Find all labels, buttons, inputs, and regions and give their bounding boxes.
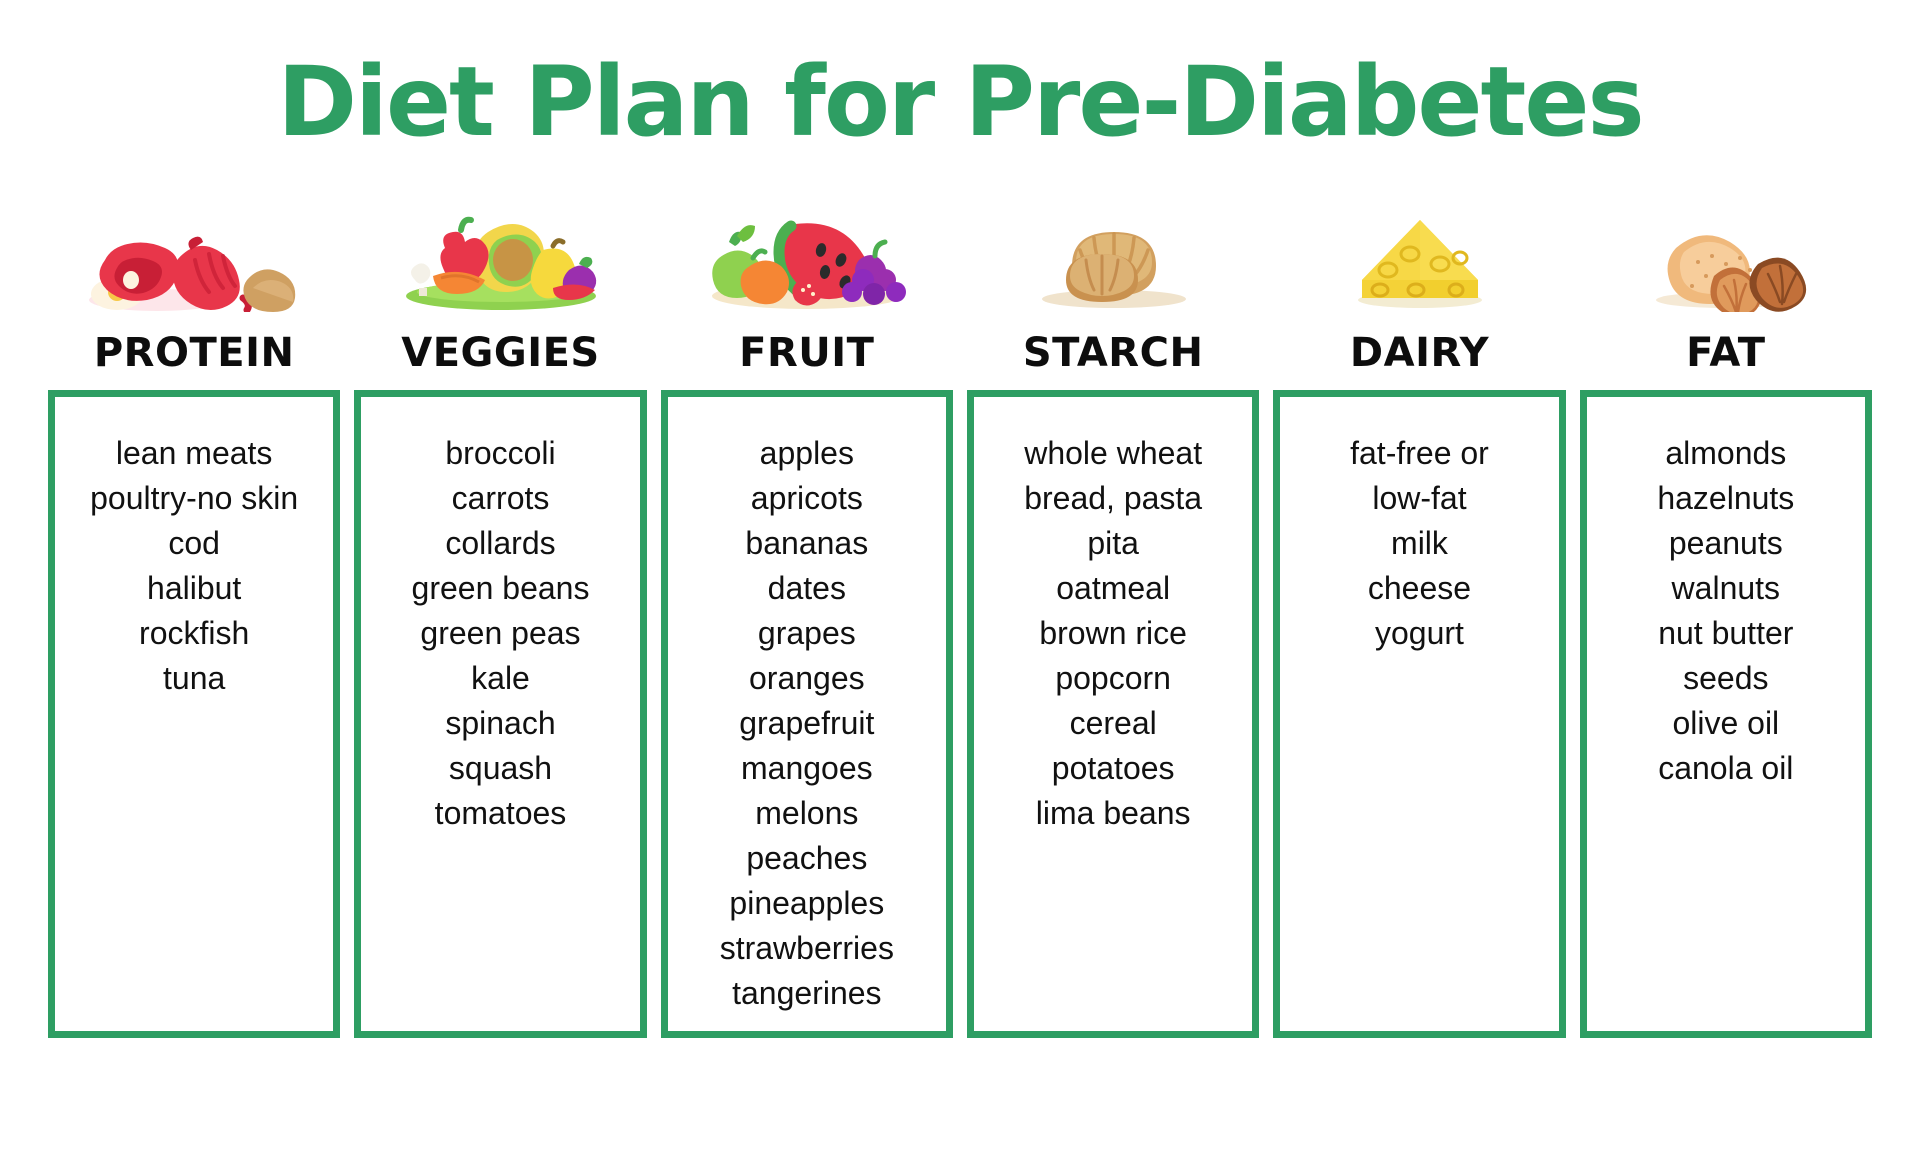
list-item: melons <box>755 791 858 836</box>
list-item: milk <box>1391 521 1448 566</box>
category-header-veggies: VEGGIES <box>401 330 599 376</box>
list-item: squash <box>449 746 552 791</box>
list-item: rockfish <box>139 611 249 656</box>
list-item: cheese <box>1368 566 1471 611</box>
food-group-column-fruit: FRUIT apples apricots bananas dates grap… <box>661 197 953 1038</box>
meat-steak-sausage-egg-icon <box>48 197 340 312</box>
list-item: lima beans <box>1036 791 1191 836</box>
list-item: oranges <box>749 656 865 701</box>
list-item: whole wheat <box>1024 431 1202 476</box>
list-item: nut butter <box>1658 611 1793 656</box>
list-item: pineapples <box>729 881 884 926</box>
list-item: yogurt <box>1375 611 1464 656</box>
list-item: lean meats <box>116 431 273 476</box>
cheese-wedge-icon <box>1273 197 1565 312</box>
list-item: potatoes <box>1052 746 1175 791</box>
page-title: Diet Plan for Pre-Diabetes <box>0 52 1920 153</box>
category-header-protein: PROTEIN <box>94 330 295 376</box>
list-item: apricots <box>751 476 863 521</box>
list-item: poultry-no skin <box>90 476 298 521</box>
list-item: canola oil <box>1658 746 1793 791</box>
list-item: green peas <box>420 611 580 656</box>
list-item: peanuts <box>1669 521 1783 566</box>
category-header-dairy: DAIRY <box>1350 330 1489 376</box>
food-group-column-fat: FAT almonds hazelnuts peanuts walnuts nu… <box>1580 197 1872 1038</box>
list-item: oatmeal <box>1056 566 1170 611</box>
list-item: bananas <box>745 521 868 566</box>
food-group-column-protein: PROTEIN lean meats poultry-no skin cod h… <box>48 197 340 1038</box>
list-item: seeds <box>1683 656 1768 701</box>
list-item: spinach <box>445 701 555 746</box>
list-item: broccoli <box>445 431 555 476</box>
list-item: strawberries <box>720 926 894 971</box>
list-item: cereal <box>1070 701 1157 746</box>
list-item: bread, pasta <box>1024 476 1202 521</box>
food-list-protein: lean meats poultry-no skin cod halibut r… <box>48 390 340 1038</box>
list-item: tuna <box>163 656 225 701</box>
food-group-column-starch: STARCH whole wheat bread, pasta pita oat… <box>967 197 1259 1038</box>
food-list-veggies: broccoli carrots collards green beans gr… <box>354 390 646 1038</box>
bread-loaf-icon <box>967 197 1259 312</box>
infographic-page: Diet Plan for Pre-Diabetes <box>0 0 1920 1152</box>
vegetable-platter-icon <box>354 197 646 312</box>
list-item: low-fat <box>1372 476 1466 521</box>
nuts-almonds-icon <box>1580 197 1872 312</box>
list-item: pita <box>1087 521 1139 566</box>
list-item: grapefruit <box>739 701 874 746</box>
category-header-fat: FAT <box>1686 330 1765 376</box>
food-group-column-dairy: DAIRY fat-free or low-fat milk cheese yo… <box>1273 197 1565 1038</box>
category-header-starch: STARCH <box>1023 330 1204 376</box>
list-item: collards <box>445 521 555 566</box>
list-item: dates <box>768 566 846 611</box>
category-header-fruit: FRUIT <box>739 330 874 376</box>
food-list-dairy: fat-free or low-fat milk cheese yogurt <box>1273 390 1565 1038</box>
list-item: apples <box>760 431 854 476</box>
list-item: kale <box>471 656 530 701</box>
list-item: tangerines <box>732 971 881 1016</box>
list-item: popcorn <box>1055 656 1171 701</box>
list-item: green beans <box>412 566 590 611</box>
food-list-fruit: apples apricots bananas dates grapes ora… <box>661 390 953 1038</box>
list-item: peaches <box>746 836 867 881</box>
list-item: hazelnuts <box>1657 476 1794 521</box>
list-item: fat-free or <box>1350 431 1489 476</box>
list-item: olive oil <box>1672 701 1779 746</box>
list-item: tomatoes <box>435 791 567 836</box>
list-item: almonds <box>1665 431 1786 476</box>
food-list-starch: whole wheat bread, pasta pita oatmeal br… <box>967 390 1259 1038</box>
list-item: halibut <box>147 566 241 611</box>
list-item: grapes <box>758 611 856 656</box>
list-item: brown rice <box>1039 611 1187 656</box>
fruit-watermelon-grapes-icon <box>661 197 953 312</box>
food-group-column-veggies: VEGGIES broccoli carrots collards green … <box>354 197 646 1038</box>
food-list-fat: almonds hazelnuts peanuts walnuts nut bu… <box>1580 390 1872 1038</box>
list-item: cod <box>168 521 220 566</box>
list-item: mangoes <box>741 746 873 791</box>
food-group-columns: PROTEIN lean meats poultry-no skin cod h… <box>0 197 1920 1038</box>
list-item: carrots <box>452 476 550 521</box>
list-item: walnuts <box>1672 566 1781 611</box>
